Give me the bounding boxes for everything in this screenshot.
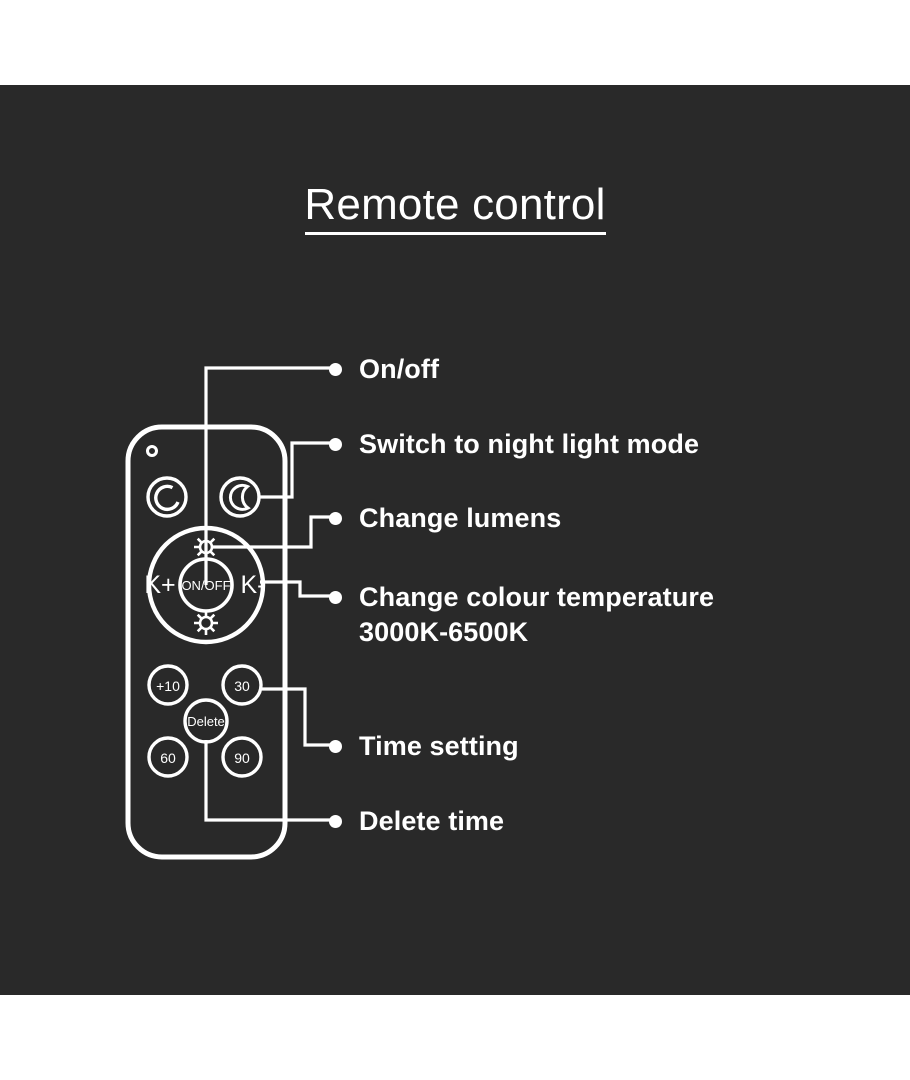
callout-time-setting: Time setting — [329, 729, 519, 764]
callout-list: On/off Switch to night light mode Change… — [0, 85, 910, 995]
callout-label: Time setting — [359, 729, 519, 764]
bullet-icon — [329, 512, 342, 525]
dark-panel: K+ K- ON/OFF +10 30 Delete 60 90 Remote … — [0, 85, 910, 995]
page-root: K+ K- ON/OFF +10 30 Delete 60 90 Remote … — [0, 0, 910, 1080]
bullet-icon — [329, 815, 342, 828]
callout-label: Change colour temperature 3000K-6500K — [359, 580, 714, 649]
callout-night-light: Switch to night light mode — [329, 427, 699, 462]
bullet-icon — [329, 363, 342, 376]
callout-label: Change lumens — [359, 501, 561, 536]
callout-label: On/off — [359, 352, 439, 387]
callout-label: Delete time — [359, 804, 504, 839]
callout-on-off: On/off — [329, 352, 439, 387]
callout-change-lumens: Change lumens — [329, 501, 561, 536]
callout-delete-time: Delete time — [329, 804, 504, 839]
bullet-icon — [329, 591, 342, 604]
callout-label: Switch to night light mode — [359, 427, 699, 462]
bullet-icon — [329, 740, 342, 753]
callout-colour-temperature: Change colour temperature 3000K-6500K — [329, 580, 714, 649]
bullet-icon — [329, 438, 342, 451]
